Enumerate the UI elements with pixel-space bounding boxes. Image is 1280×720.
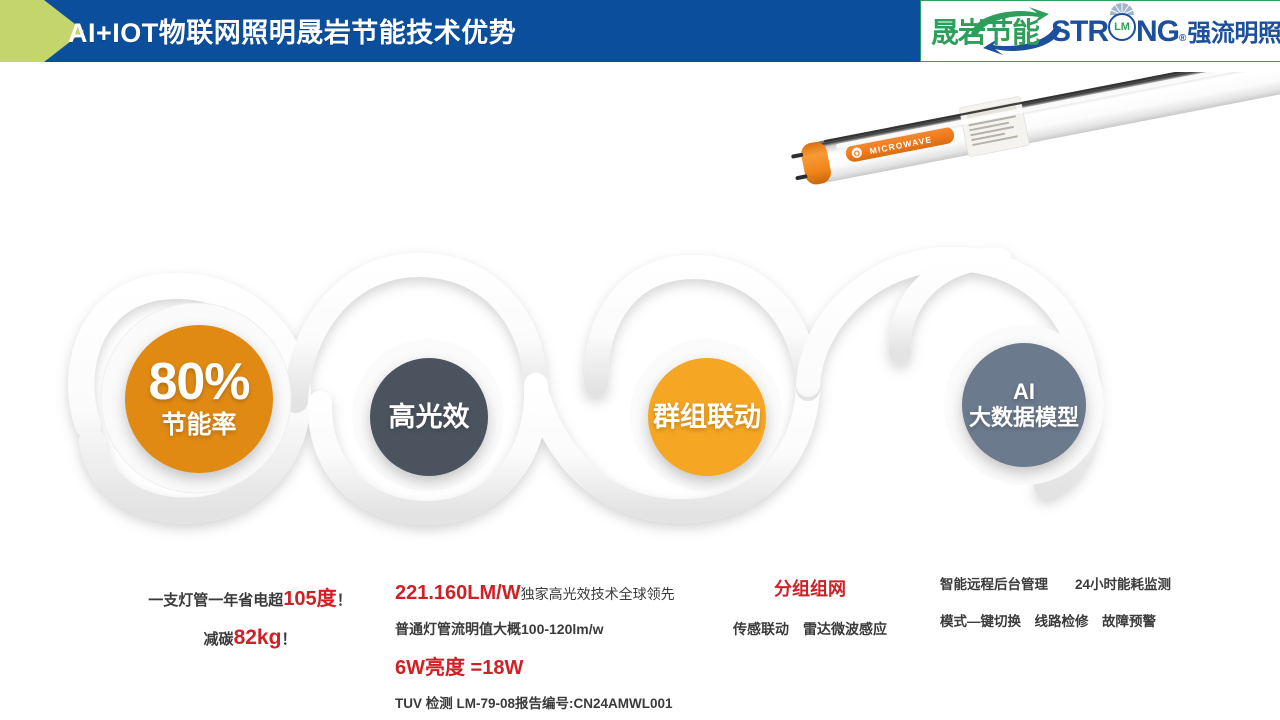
logo-brand-en-group: STR LM NG ® 强流明照明 [1051, 13, 1280, 49]
caption-1-line-2-post: ！ [281, 631, 296, 648]
caption-column-2: 221.160LM/W独家高光效技术全球领先 普通灯管流明值大概100-120l… [395, 582, 675, 712]
logo-brand-en-head: STR [1051, 15, 1108, 49]
caption-column-1: 一支灯管一年省电超105度！ 减碳82kg！ [100, 588, 400, 649]
caption-2-line-2: 普通灯管流明值大概100-120lm/w [395, 622, 675, 637]
caption-2-lumens-value: 221.160LM/W [395, 582, 521, 604]
caption-1-line-2: 减碳82kg！ [100, 626, 400, 649]
caption-3-line-1: 分组组网 [700, 580, 920, 600]
caption-4-line-1: 智能远程后台管理 24小时能耗监测 [940, 578, 1171, 593]
logo-lm-badge-icon: LM [1108, 13, 1136, 41]
page-title: AI+IOT物联网照明晟岩节能技术优势 [68, 11, 516, 50]
caption-1-line-1-pre: 一支灯管一年省电超 [148, 592, 283, 609]
logo-brand-cn: 晟岩节能 [927, 11, 1043, 51]
node-high-efficacy-label: 高光效 [389, 401, 470, 434]
caption-3-line-2: 传感联动 雷达微波感应 [700, 622, 920, 637]
caption-column-4: 智能远程后台管理 24小时能耗监测 模式—键切换 线路检修 故障预警 [940, 578, 1171, 630]
node-ai-bigdata-title: AI [1013, 379, 1035, 405]
caption-1-line-1-num: 105度 [283, 588, 336, 610]
caption-1-line-2-num: 82kg [234, 626, 282, 649]
caption-4-line-2: 模式—键切换 线路检修 故障预警 [940, 615, 1171, 630]
logo-brand-en-tail: NG [1136, 15, 1179, 49]
process-diagram: 80% 节能率 高光效 群组联动 AI 大数据模型 [0, 225, 1280, 545]
node-ai-bigdata-label: 大数据模型 [969, 405, 1079, 431]
slide-root: AI+IOT物联网照明晟岩节能技术优势 晟岩节能 STR LM [0, 0, 1280, 720]
node-ai-bigdata[interactable]: AI 大数据模型 [962, 343, 1086, 467]
caption-2-lumens-note: 独家高光效技术全球领先 [521, 586, 675, 602]
logo-brand-cn2: 强流明照明 [1187, 13, 1280, 48]
node-energy-saving-label: 节能率 [161, 410, 236, 441]
node-group-linkage-label: 群组联动 [653, 401, 761, 434]
company-logo: 晟岩节能 STR LM NG ® 强流明照明 [920, 0, 1280, 62]
node-energy-saving-value: 80% [148, 356, 249, 408]
registered-trademark-icon: ® [1179, 33, 1186, 44]
node-energy-saving[interactable]: 80% 节能率 [125, 325, 273, 473]
caption-2-line-4: TUV 检测 LM-79-08报告编号:CN24AMWL001 [395, 697, 675, 712]
caption-2-line-1: 221.160LM/W独家高光效技术全球领先 [395, 582, 675, 604]
caption-1-line-1-post: ！ [337, 592, 352, 609]
caption-2-line-3: 6W亮度 =18W [395, 657, 675, 679]
led-tube-image: O MICROWAVE [760, 72, 1280, 212]
caption-1-line-1: 一支灯管一年省电超105度！ [100, 588, 400, 610]
node-high-efficacy[interactable]: 高光效 [370, 358, 488, 476]
logo-lm-text: LM [1114, 22, 1130, 33]
caption-column-3: 分组组网 传感联动 雷达微波感应 [700, 580, 920, 637]
node-group-linkage[interactable]: 群组联动 [648, 358, 766, 476]
caption-1-line-2-pre: 减碳 [204, 631, 234, 648]
